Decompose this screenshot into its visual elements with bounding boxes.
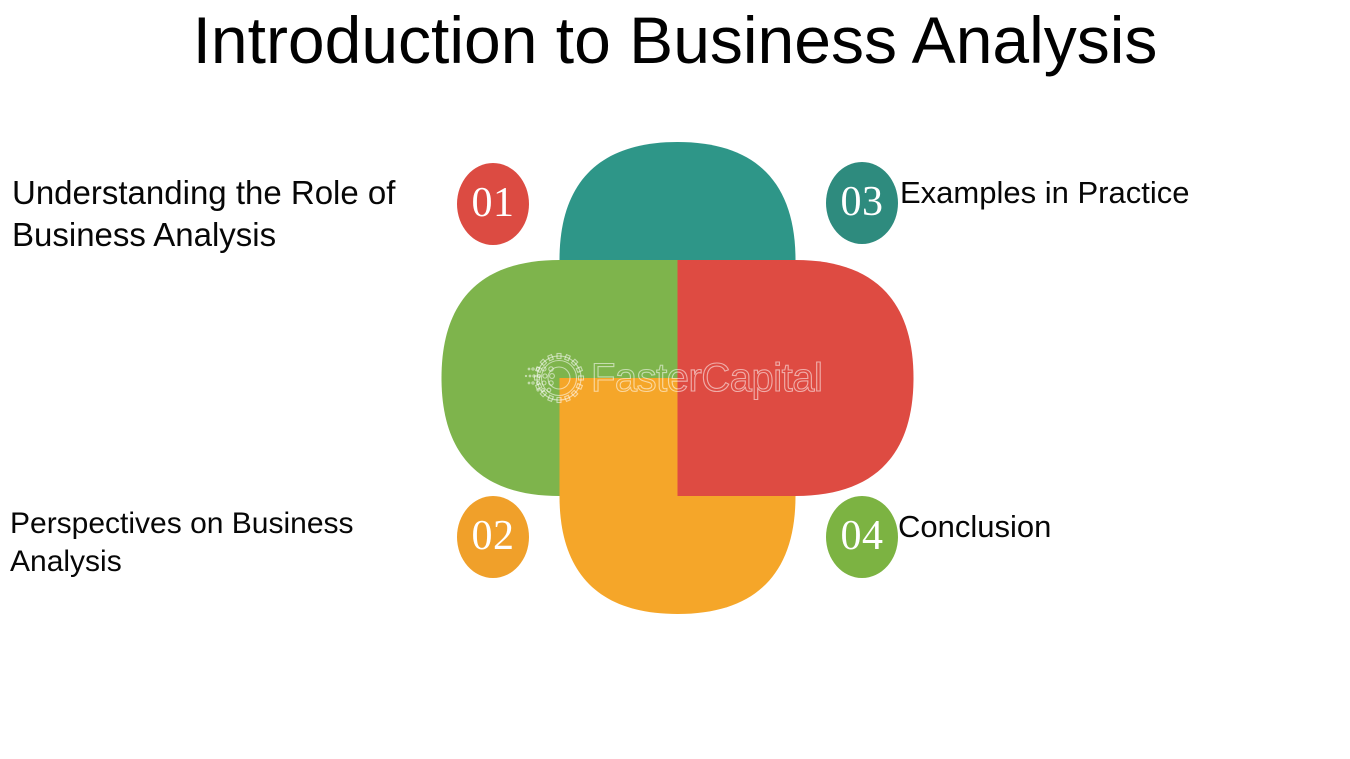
step-label-02: Perspectives on Business Analysis — [10, 505, 460, 581]
page-title: Introduction to Business Analysis — [0, 2, 1350, 78]
step-label-01: Understanding the Role of Business Analy… — [12, 172, 432, 256]
step-label-04: Conclusion — [898, 507, 1318, 547]
step-badge-02-number: 02 — [472, 515, 515, 557]
step-badge-04[interactable]: 04 — [826, 496, 898, 578]
step-badge-03-number: 03 — [841, 181, 884, 223]
step-badge-01-number: 01 — [472, 182, 515, 224]
step-badge-03[interactable]: 03 — [826, 162, 898, 244]
step-label-03: Examples in Practice — [900, 173, 1330, 213]
petal-diagram — [470, 120, 885, 620]
petal-left — [678, 260, 914, 496]
step-badge-01[interactable]: 01 — [457, 163, 529, 245]
petal-diagram-svg — [470, 120, 885, 620]
step-badge-02[interactable]: 02 — [457, 496, 529, 578]
step-badge-04-number: 04 — [841, 515, 884, 557]
